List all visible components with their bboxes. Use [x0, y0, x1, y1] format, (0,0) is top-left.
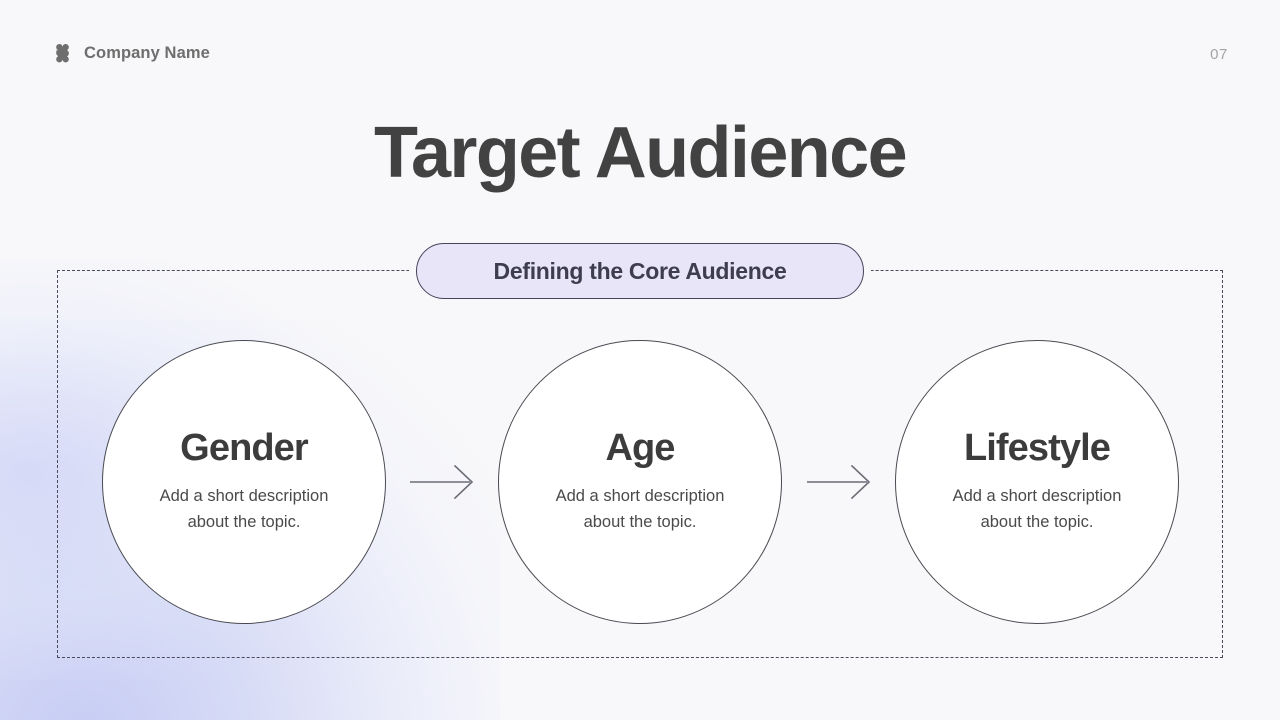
step-circle-age[interactable]: Age Add a short description about the to… [498, 340, 782, 624]
arrow-right-icon [408, 459, 484, 505]
brand-name: Company Name [84, 44, 210, 63]
clover-logo-icon [52, 43, 73, 64]
step-title: Age [605, 428, 674, 470]
step-circle-gender[interactable]: Gender Add a short description about the… [102, 340, 386, 624]
core-audience-badge-label: Defining the Core Audience [494, 258, 787, 285]
step-circle-lifestyle[interactable]: Lifestyle Add a short description about … [895, 340, 1179, 624]
step-title: Lifestyle [964, 428, 1110, 470]
page-title: Target Audience [0, 116, 1280, 192]
arrow-right-icon [805, 459, 881, 505]
audience-steps-row: Gender Add a short description about the… [57, 340, 1223, 630]
step-description: Add a short description about the topic. [540, 483, 740, 536]
step-description: Add a short description about the topic. [937, 483, 1137, 536]
slide-canvas: Company Name 07 Target Audience Defining… [0, 0, 1280, 720]
step-description: Add a short description about the topic. [144, 483, 344, 536]
slide-header: Company Name 07 [0, 0, 1280, 110]
core-audience-badge: Defining the Core Audience [416, 243, 864, 299]
brand-lockup: Company Name [52, 43, 210, 64]
step-title: Gender [180, 428, 308, 470]
page-number: 07 [1210, 46, 1228, 63]
